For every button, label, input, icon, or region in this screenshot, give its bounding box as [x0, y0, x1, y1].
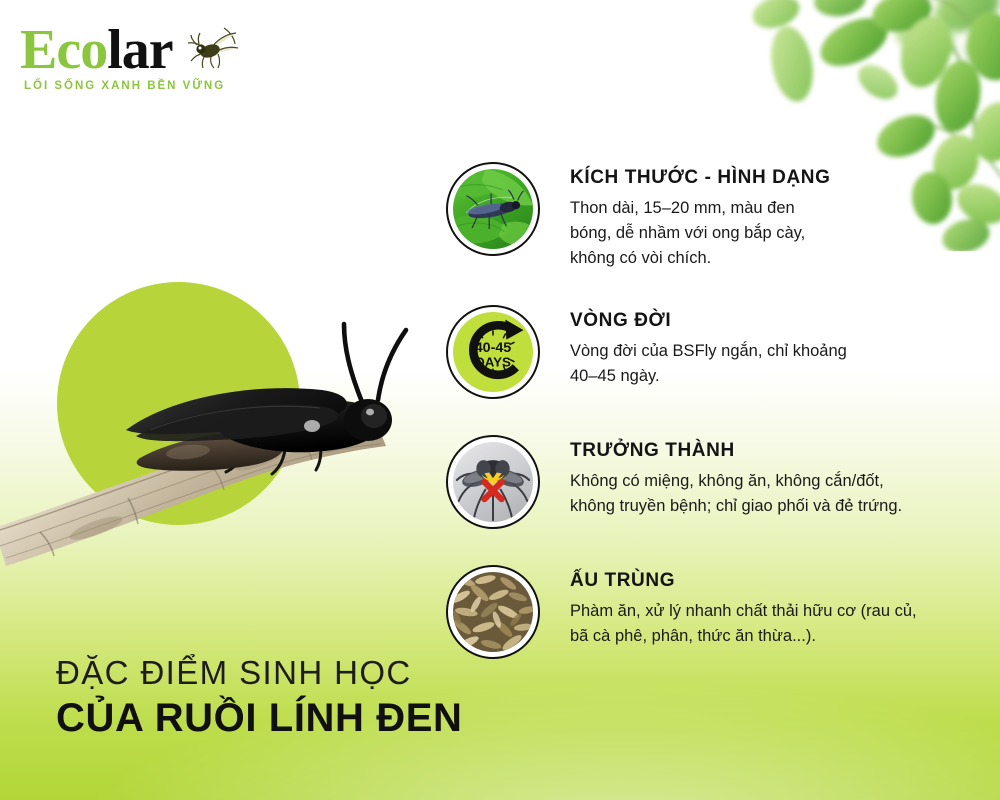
larvae-photo-icon: [446, 565, 540, 659]
adult-fly-no-mouth-icon: [446, 435, 540, 529]
brand-name-black: lar: [107, 19, 172, 81]
feature-item: KÍCH THƯỚC - HÌNH DẠNG Thon dài, 15–20 m…: [446, 162, 966, 271]
page-title: ĐẶC ĐIỂM SINH HỌC CỦA RUỒI LÍNH ĐEN: [56, 654, 656, 742]
bee-icon: [180, 24, 242, 70]
feature-text: ẤU TRÙNG Phàm ăn, xử lý nhanh chất thải …: [570, 565, 966, 649]
feature-list: KÍCH THƯỚC - HÌNH DẠNG Thon dài, 15–20 m…: [446, 162, 966, 661]
feature-description: Vòng đời của BSFly ngắn, chỉ khoảng 40–4…: [570, 339, 962, 389]
feature-text: TRƯỞNG THÀNH Không có miệng, không ăn, k…: [570, 435, 966, 519]
feature-title: ẤU TRÙNG: [570, 571, 966, 592]
feature-description: Không có miệng, không ăn, không cắn/đốt,…: [570, 469, 966, 519]
lifecycle-days-label: DAYS: [475, 354, 511, 369]
feature-description: Phàm ăn, xử lý nhanh chất thải hữu cơ (r…: [570, 599, 966, 649]
feature-title: VÒNG ĐỜI: [570, 311, 966, 332]
page-title-line2: CỦA RUỒI LÍNH ĐEN: [56, 695, 656, 742]
feature-text: VÒNG ĐỜI Vòng đời của BSFly ngắn, chỉ kh…: [570, 305, 966, 389]
feature-item: TRƯỞNG THÀNH Không có miệng, không ăn, k…: [446, 435, 966, 531]
infographic-poster: Ecolar LỐI SỐNG XANH BỀN VỮNG: [0, 0, 1000, 800]
feature-description: Thon dài, 15–20 mm, màu đen bóng, dễ nhầ…: [570, 196, 962, 271]
feature-text: KÍCH THƯỚC - HÌNH DẠNG Thon dài, 15–20 m…: [570, 162, 966, 271]
feature-item: 40-45 DAYS VÒNG ĐỜI Vòng đời của BSFly n…: [446, 305, 966, 401]
hero-illustration: [0, 260, 430, 590]
feature-title: KÍCH THƯỚC - HÌNH DẠNG: [570, 168, 966, 189]
fly-on-leaf-photo-icon: [446, 162, 540, 256]
page-title-line1: ĐẶC ĐIỂM SINH HỌC: [56, 654, 656, 693]
feature-title: TRƯỞNG THÀNH: [570, 441, 966, 462]
brand-logo[interactable]: Ecolar LỐI SỐNG XANH BỀN VỮNG: [20, 22, 250, 112]
lifecycle-40-45-days-icon: 40-45 DAYS: [446, 305, 540, 399]
black-soldier-fly-on-twig-photo: [0, 260, 430, 590]
brand-tagline: LỐI SỐNG XANH BỀN VỮNG: [24, 80, 250, 92]
feature-item: ẤU TRÙNG Phàm ăn, xử lý nhanh chất thải …: [446, 565, 966, 661]
brand-name-green: Eco: [20, 19, 107, 81]
